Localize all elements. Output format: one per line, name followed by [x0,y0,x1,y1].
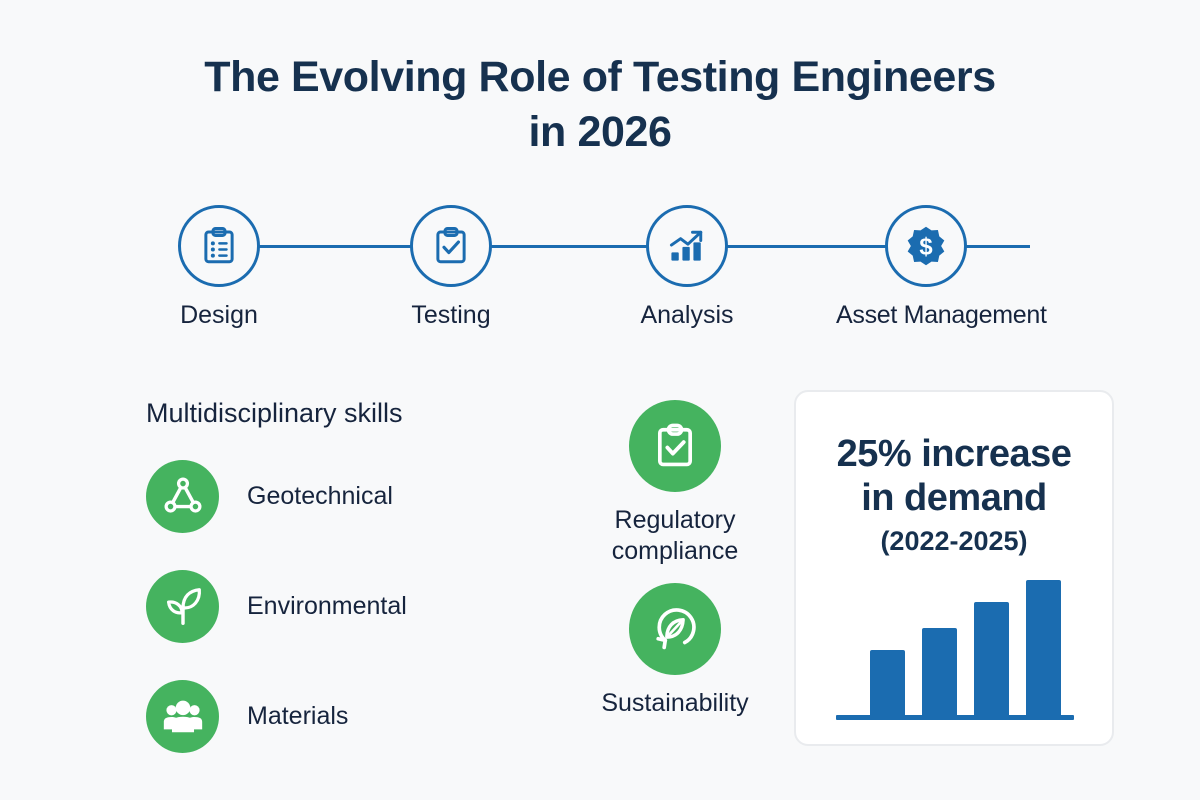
skill-badge-environmental [146,570,219,643]
title-line-1: The Evolving Role of Testing Engineers [0,50,1200,105]
focus-label-line-1: Sustainability [560,688,790,719]
skill-badge-materials [146,680,219,753]
focus-label-line-1: Regulatory [560,505,790,536]
skill-item-environmental[interactable]: Environmental [146,562,546,650]
demand-bar-chart [824,568,1086,720]
title-line-2: in 2026 [0,105,1200,160]
skill-badge-geotechnical [146,460,219,533]
chart-bar [1026,580,1061,716]
bar-chart-trend-up-icon [665,224,709,268]
step-circle-design [178,205,260,287]
process-steps: Design Testing [150,196,1100,341]
chart-bar [974,602,1009,716]
skills-heading: Multidisciplinary skills [146,398,546,429]
process-step-testing[interactable]: Testing [361,196,541,330]
stat-card: 25% increase in demand (2022-2025) [794,390,1114,746]
focus-label-line-2: compliance [560,536,790,567]
page-title: The Evolving Role of Testing Engineers i… [0,50,1200,160]
focus-badge-sustainability [629,583,721,675]
stat-period-label: (2022-2025) [796,526,1112,557]
step-label-asset-management: Asset Management [836,301,1016,330]
step-label-testing: Testing [361,301,541,330]
step-circle-asset-management: $ [885,205,967,287]
skills-section: Multidisciplinary skills Geotechnical [146,398,546,782]
step-circle-analysis [646,205,728,287]
clipboard-check-icon [649,420,701,472]
focus-label-sustainability: Sustainability [560,688,790,719]
stat-headline-line-1: 25% increase [796,432,1112,476]
focus-badge-regulatory-compliance [629,400,721,492]
skill-item-materials[interactable]: Materials [146,672,546,760]
clipboard-check-icon [430,225,472,267]
focus-item-sustainability[interactable]: Sustainability [560,583,790,719]
triangle-nodes-icon [160,473,206,519]
svg-text:$: $ [919,233,932,260]
step-label-analysis: Analysis [597,301,777,330]
sprout-leaf-icon [160,583,206,629]
stat-headline: 25% increase in demand [796,432,1112,520]
chart-bar [870,650,905,716]
skill-item-geotechnical[interactable]: Geotechnical [146,452,546,540]
step-circle-testing [410,205,492,287]
stat-headline-line-2: in demand [796,476,1112,520]
infographic-root: The Evolving Role of Testing Engineers i… [0,0,1200,800]
skill-label-geotechnical: Geotechnical [247,482,393,511]
skill-label-materials: Materials [247,702,348,731]
process-step-analysis[interactable]: Analysis [597,196,777,330]
focus-section: Regulatory compliance Sustainability [560,400,790,732]
process-step-asset-management[interactable]: $ Asset Management [836,196,1016,330]
clipboard-list-icon [198,225,240,267]
process-step-design[interactable]: Design [129,196,309,330]
skill-label-environmental: Environmental [247,592,407,621]
leaf-recycle-icon [649,603,701,655]
focus-label-regulatory-compliance: Regulatory compliance [560,505,790,566]
dollar-badge-icon: $ [904,224,948,268]
focus-item-regulatory-compliance[interactable]: Regulatory compliance [560,400,790,566]
chart-bar [922,628,957,716]
people-group-icon [160,693,206,739]
step-label-design: Design [129,301,309,330]
